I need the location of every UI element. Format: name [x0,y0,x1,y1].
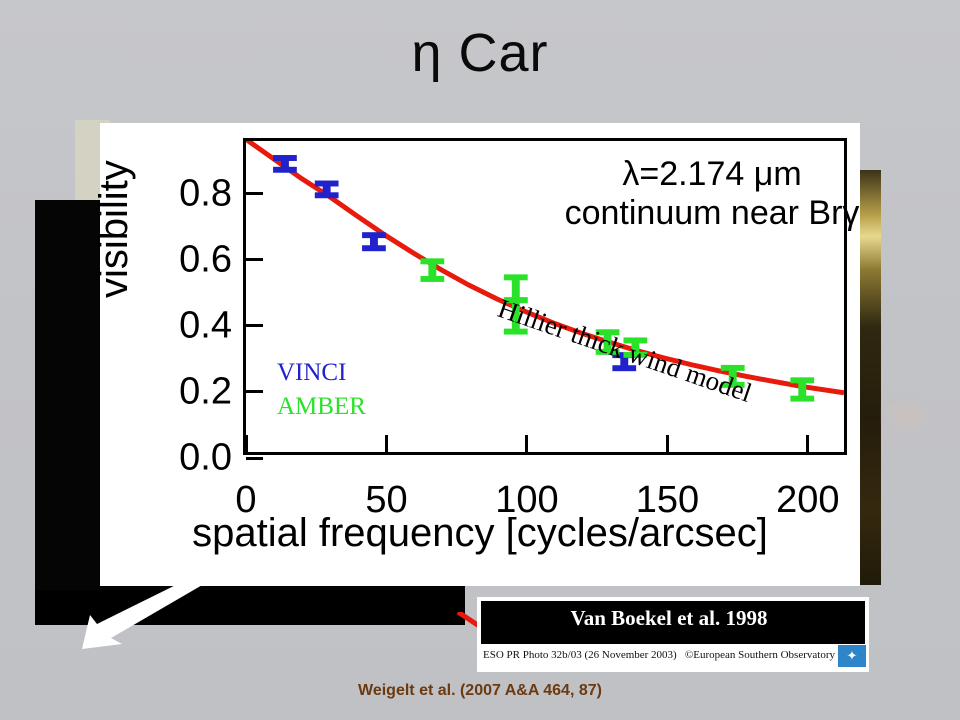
y-tick-label: 0.4 [179,304,232,347]
wavelength-annotation: λ=2.174 μm continuum near Brγ [562,155,862,233]
wavelength-line-2: continuum near Brγ [562,194,862,233]
y-tick [246,390,263,393]
background-faint-blob [880,395,935,435]
x-tick-label: 150 [636,479,699,522]
y-tick [246,457,263,460]
credit-right-note: ©European Southern Observatory [685,649,835,661]
wavelength-line-1: λ=2.174 μm [562,155,862,194]
y-tick [246,324,263,327]
credit-panel: Van Boekel et al. 1998 ESO PR Photo 32b/… [477,597,869,672]
x-tick-label: 200 [776,479,839,522]
x-tick [806,435,809,452]
credit-left-note: ESO PR Photo 32b/03 (26 November 2003) [483,649,677,661]
legend-item-vinci: VINCI [277,359,346,387]
page-title-text: η Car [411,23,548,83]
y-tick [246,258,263,261]
x-tick [245,435,248,452]
legend-item-amber: AMBER [277,393,366,421]
x-tick [525,435,528,452]
y-tick-label: 0.8 [179,172,232,215]
data-point-vinci [362,232,386,251]
credit-title: Van Boekel et al. 1998 [477,606,861,631]
x-tick [666,435,669,452]
x-tick-label: 0 [235,479,256,522]
white-arrow-icon [70,575,210,655]
chart-card: visibility spatial frequency [cycles/arc… [100,123,860,586]
eso-logo-icon: ✦ [838,645,866,667]
y-tick [246,192,263,195]
footer-reference: Weigelt et al. (2007 A&A 464, 87) [0,682,960,700]
y-tick-label: 0.6 [179,238,232,281]
y-tick-label: 0.2 [179,370,232,413]
slide-canvas: η Car visibility spatial frequency [cycl… [0,0,960,720]
x-tick-label: 50 [365,479,407,522]
plot-frame: 0501001502000.00.20.40.60.8 λ=2.174 μm c… [243,138,847,455]
x-axis-title: spatial frequency [cycles/arcsec] [100,511,860,556]
page-title: η Car [0,22,960,84]
x-tick-label: 100 [495,479,558,522]
y-tick-label: 0.0 [179,437,232,480]
y-axis-title: visibility [92,160,137,298]
x-tick [385,435,388,452]
